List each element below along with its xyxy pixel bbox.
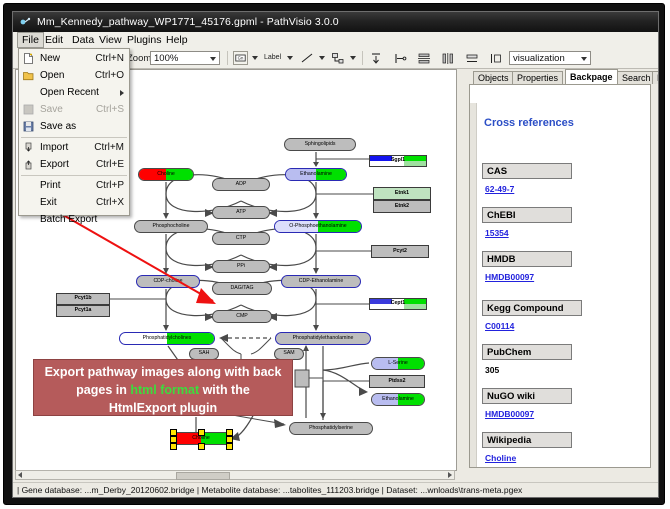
selection-handle-sw[interactable] <box>170 443 177 450</box>
node-cdp-choline[interactable]: CDP-choline <box>136 275 200 288</box>
annotation-callout: Export pathway images along with back pa… <box>33 359 293 416</box>
xref-value-wikipedia[interactable]: Choline <box>485 453 516 463</box>
interaction-dropdown-icon[interactable] <box>350 56 356 60</box>
node-phosphocholine[interactable]: Phosphocholine <box>134 220 208 233</box>
tab-objects[interactable]: Objects <box>473 71 514 84</box>
menu-edit[interactable]: Edit <box>41 33 67 47</box>
gene-etnk1[interactable]: Etnk1 <box>373 187 431 200</box>
menu-item-exit[interactable]: Exit Ctrl+X <box>19 195 129 210</box>
label-button[interactable]: Label <box>264 54 281 61</box>
menu-item-import[interactable]: Import Ctrl+M <box>19 140 129 155</box>
selection-handle-ne[interactable] <box>226 429 233 436</box>
same-height-icon[interactable] <box>489 52 503 65</box>
selection-handle-se[interactable] <box>226 443 233 450</box>
tab-legend[interactable]: Legend <box>652 71 659 84</box>
zoom-value: 100% <box>154 53 178 64</box>
menu-item-save-as[interactable]: Save as <box>19 119 129 134</box>
menu-item-export[interactable]: Export Ctrl+E <box>19 157 129 172</box>
menu-divider-2 <box>21 175 127 176</box>
xref-header-cas: CAS <box>482 163 572 179</box>
menu-item-open[interactable]: Open Ctrl+O <box>19 68 129 83</box>
xref-value-hmdb[interactable]: HMDB00097 <box>485 272 534 282</box>
toolbar-separator-2 <box>362 51 363 65</box>
side-panel: Objects Properties Backpage Search Legen… <box>463 69 656 469</box>
screenshot-root: Mm_Kennedy_pathway_WP1771_45176.gpml - P… <box>0 0 670 509</box>
canvas-hscrollbar[interactable] <box>15 470 455 480</box>
node-phosphatidylethanolamine[interactable]: Phosphatidylethanolamine <box>275 332 371 345</box>
callout-line2-b: with the <box>199 383 250 397</box>
same-width-icon[interactable] <box>465 52 479 65</box>
gene-pcyt1b[interactable]: Pcyt1b <box>56 293 110 305</box>
node-ppi[interactable]: PPi <box>212 260 270 273</box>
distribute-horizontal-icon[interactable] <box>441 52 455 65</box>
xref-value-pubchem: 305 <box>485 365 499 375</box>
datanode-icon: Gn <box>234 52 247 64</box>
node-o-phosphoethanolamine[interactable]: O-Phosphoethanolamine <box>274 220 362 233</box>
menu-item-batch-export[interactable]: Batch Export <box>19 212 129 227</box>
xref-header-chebi: ChEBI <box>482 207 572 223</box>
xref-value-chebi[interactable]: 15354 <box>485 228 509 238</box>
datanode-button[interactable]: Gn <box>233 51 248 65</box>
callout-line-2: pages in html format with the <box>34 381 292 399</box>
node-dag-tag[interactable]: DAG/TAG <box>212 282 272 295</box>
menu-divider-1 <box>21 137 127 138</box>
new-file-icon <box>23 53 34 64</box>
scroll-thumb[interactable] <box>176 472 230 480</box>
visualization-combo[interactable]: visualization <box>509 51 591 65</box>
zoom-combo[interactable]: 100% <box>150 51 220 65</box>
menu-item-new[interactable]: New Ctrl+N <box>19 51 129 66</box>
gene-sgpl1[interactable]: Sgpl1 <box>369 155 427 167</box>
node-atp[interactable]: ATP <box>212 206 270 219</box>
xref-value-kegg[interactable]: C00114 <box>485 321 514 331</box>
title-bar: Mm_Kennedy_pathway_WP1771_45176.gpml - P… <box>13 12 658 32</box>
menu-view[interactable]: View <box>95 33 126 47</box>
node-sphingolipids[interactable]: Sphingolipids <box>284 138 356 151</box>
label-dropdown-icon[interactable] <box>287 56 293 60</box>
selection-handle-w[interactable] <box>170 436 177 443</box>
node-ctp[interactable]: CTP <box>212 232 270 245</box>
folder-icon <box>23 70 34 81</box>
gene-pcyt2[interactable]: Pcyt2 <box>371 245 429 258</box>
xref-header-pubchem: PubChem <box>482 344 572 360</box>
xref-value-nugo[interactable]: HMDB00097 <box>485 409 534 419</box>
tab-search[interactable]: Search <box>617 71 656 84</box>
distribute-vertical-icon[interactable] <box>417 52 431 65</box>
visualization-value: visualization <box>513 53 565 64</box>
menu-data[interactable]: Data <box>68 33 98 47</box>
line-dropdown-icon[interactable] <box>319 56 325 60</box>
pathvisio-window: Mm_Kennedy_pathway_WP1771_45176.gpml - P… <box>12 11 659 498</box>
node-phosphatidylcholines[interactable]: Phosphatidylcholines <box>119 332 215 345</box>
xref-header-kegg: Kegg Compound <box>482 300 582 316</box>
menu-item-print[interactable]: Print Ctrl+P <box>19 178 129 193</box>
line-icon[interactable] <box>300 52 314 65</box>
chevron-right-icon <box>120 90 124 96</box>
gene-cept1[interactable]: Cept1 <box>369 298 427 310</box>
file-dropdown-menu[interactable]: New Ctrl+N Open Ctrl+O Open Recent Save … <box>18 48 130 216</box>
menu-plugins[interactable]: Plugins <box>123 33 165 47</box>
node-cdp-ethanolamine[interactable]: CDP-Ethanolamine <box>281 275 361 288</box>
align-left-icon[interactable] <box>393 52 407 65</box>
datanode-dropdown-icon[interactable] <box>252 56 258 60</box>
menu-bar: File Edit Data View Plugins Help <box>13 32 658 49</box>
node-cmp[interactable]: CMP <box>212 310 272 323</box>
node-ethanolamine-top[interactable]: Ethanolamine <box>285 168 347 181</box>
gene-pcyt1a[interactable]: Pcyt1a <box>56 305 110 317</box>
selection-handle-e[interactable] <box>226 436 233 443</box>
xref-header-wikipedia: Wikipedia <box>482 432 572 448</box>
status-bar: | Gene database: ...m_Derby_20120602.bri… <box>13 482 659 498</box>
tab-backpage[interactable]: Backpage <box>565 69 618 84</box>
xref-header-hmdb: HMDB <box>482 251 572 267</box>
callout-line-3: HtmlExport plugin <box>34 399 292 417</box>
import-icon <box>23 142 34 153</box>
node-l-serine[interactable]: L-Serine <box>371 357 425 370</box>
tab-properties[interactable]: Properties <box>512 71 563 84</box>
scroll-right-arrow-icon[interactable] <box>448 472 452 478</box>
export-icon <box>23 159 34 170</box>
align-top-icon[interactable] <box>369 52 383 65</box>
selection-handle-nw[interactable] <box>170 429 177 436</box>
node-choline-top[interactable]: Choline <box>138 168 194 181</box>
node-phosphatidylserine[interactable]: Phosphatidylserine <box>289 422 373 435</box>
menu-item-save[interactable]: Save Ctrl+S <box>19 102 129 117</box>
cross-references-title: Cross references <box>484 117 574 129</box>
chevron-down-icon <box>581 57 587 61</box>
menu-item-open-recent[interactable]: Open Recent <box>19 85 129 100</box>
node-adp[interactable]: ADP <box>212 178 270 191</box>
node-ethanolamine-right[interactable]: Ethanolamine <box>371 393 425 406</box>
backpage-panel: Cross references CAS 62-49-7 ChEBI 15354… <box>469 84 651 468</box>
menu-file[interactable]: File <box>17 32 44 48</box>
toolbar-separator <box>227 51 228 65</box>
xref-header-nugo: NuGO wiki <box>482 388 572 404</box>
window-outer-frame: Mm_Kennedy_pathway_WP1771_45176.gpml - P… <box>3 3 665 505</box>
callout-line-1: Export pathway images along with back <box>34 363 292 381</box>
panel-vscrollbar[interactable] <box>470 103 477 467</box>
xref-value-cas[interactable]: 62-49-7 <box>485 184 514 194</box>
menu-help[interactable]: Help <box>162 33 192 47</box>
save-icon <box>23 104 34 115</box>
pathvisio-icon <box>19 16 31 28</box>
save-as-icon <box>23 121 34 132</box>
gene-etnk2[interactable]: Etnk2 <box>373 200 431 213</box>
window-title: Mm_Kennedy_pathway_WP1771_45176.gpml - P… <box>37 16 339 28</box>
gene-ptdss2[interactable]: Ptdss2 <box>369 375 425 388</box>
selection-handle-s[interactable] <box>198 443 205 450</box>
callout-line2-a: pages in <box>76 383 130 397</box>
interaction-icon[interactable] <box>331 52 345 65</box>
callout-highlight: html format <box>130 383 199 397</box>
chevron-down-icon <box>210 57 216 61</box>
scroll-left-arrow-icon[interactable] <box>18 472 22 478</box>
panel-tab-strip: Objects Properties Backpage Search Legen… <box>469 69 656 84</box>
selection-handle-n[interactable] <box>198 429 205 436</box>
svg-text:Gn: Gn <box>238 56 244 61</box>
